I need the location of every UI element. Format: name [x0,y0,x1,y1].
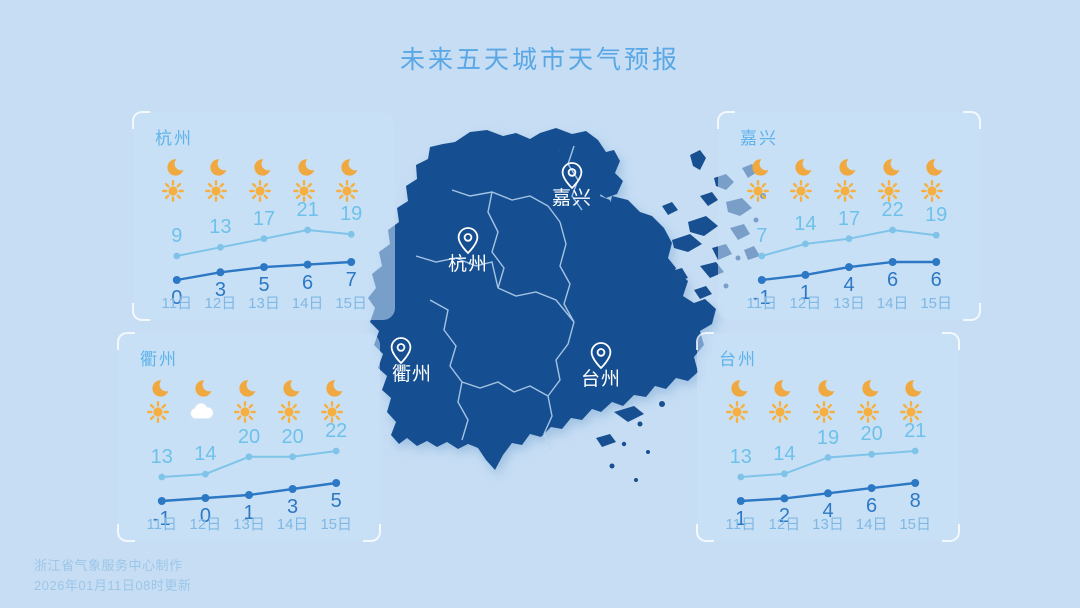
moon-icon [283,377,305,399]
sun-icon [747,180,769,202]
sun-icon [726,401,748,423]
footer-line-2: 2026年01月11日08时更新 [34,576,191,596]
moon-icon [298,156,320,178]
low-temperature-value: 7 [324,270,378,290]
moon-icon [341,156,363,178]
day-label: 15日 [309,513,363,534]
moon-icon [795,156,817,178]
moon-icon [883,156,905,178]
sun-icon [249,180,271,202]
forecast-chart-hangzhou: 9 0 11日 13 3 12日 17 5 13日 [133,112,395,320]
moon-icon [195,377,217,399]
forecast-day-column: 19 6 15日 [909,112,963,320]
sun-icon [834,180,856,202]
forecast-panel-hangzhou: 杭州 9 0 11日 13 3 12日 [133,112,395,320]
high-temperature-value: 22 [309,421,363,441]
moon-icon [818,377,840,399]
forecast-day-column: 21 8 15日 [888,333,942,541]
moon-icon [254,156,276,178]
forecast-panel-quzhou: 衢州 13 -1 11日 14 0 12日 [118,333,380,541]
high-temperature-value: 19 [909,205,963,225]
sun-icon [205,180,227,202]
day-label: 15日 [909,292,963,313]
moon-icon [152,377,174,399]
moon-icon [167,156,189,178]
sun-icon [147,401,169,423]
forecast-day-column: 22 5 15日 [309,333,363,541]
forecast-panel-jiaxing: 嘉兴 7 -1 11日 14 1 12日 [718,112,980,320]
low-temperature-value: 5 [309,491,363,511]
forecast-chart-quzhou: 13 -1 11日 14 0 12日 20 1 13日 [118,333,380,541]
forecast-day-column: 19 7 15日 [324,112,378,320]
moon-icon [862,377,884,399]
sun-icon [234,401,256,423]
moon-icon [926,156,948,178]
day-label: 15日 [324,292,378,313]
sun-icon [336,180,358,202]
moon-icon [239,377,261,399]
high-temperature-value: 21 [888,421,942,441]
moon-icon [752,156,774,178]
svg-text:嘉兴: 嘉兴 [552,187,592,209]
cloud-icon [188,401,215,421]
moon-icon [210,156,232,178]
moon-icon [731,377,753,399]
svg-text:衢州: 衢州 [392,363,432,385]
page-title: 未来五天城市天气预报 [0,40,1080,76]
weather-forecast-graphic: 嘉兴 杭州 衢州 台州 未来五天城市天气预报 [0,0,1080,608]
sun-icon [921,180,943,202]
low-temperature-value: 6 [909,270,963,290]
day-label: 15日 [888,513,942,534]
svg-text:杭州: 杭州 [448,253,488,275]
moon-icon [326,377,348,399]
footer-line-1: 浙江省气象服务中心制作 [34,556,191,576]
moon-icon [774,377,796,399]
forecast-panel-taizhou: 台州 13 1 11日 14 2 12日 [697,333,959,541]
moon-icon [839,156,861,178]
svg-text:台州: 台州 [581,368,621,390]
high-temperature-value: 19 [324,204,378,224]
sun-icon [790,180,812,202]
forecast-chart-jiaxing: 7 -1 11日 14 1 12日 17 4 13日 [718,112,980,320]
low-temperature-value: 8 [888,491,942,511]
footer-credit: 浙江省气象服务中心制作 2026年01月11日08时更新 [34,556,191,596]
forecast-chart-taizhou: 13 1 11日 14 2 12日 19 4 13日 [697,333,959,541]
moon-icon [905,377,927,399]
map-landmass [368,128,716,470]
sun-icon [278,401,300,423]
sun-icon [857,401,879,423]
sun-icon [813,401,835,423]
sun-icon [162,180,184,202]
sun-icon [769,401,791,423]
